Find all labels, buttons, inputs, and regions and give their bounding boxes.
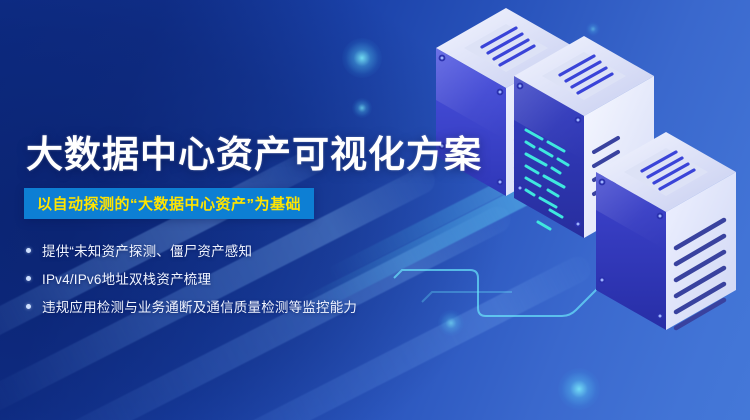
data-center-banner: 大数据中心资产可视化方案 以自动探测的“大数据中心资产”为基础 提供“未知资产探… [0, 0, 750, 420]
bullet-dot-icon [26, 276, 31, 281]
list-item: 违规应用检测与业务通断及通信质量检测等监控能力 [26, 292, 446, 320]
page-title: 大数据中心资产可视化方案 [26, 124, 482, 178]
list-item-label: IPv4/IPv6地址双栈资产梳理 [42, 268, 211, 288]
subtitle-text: 以自动探测的“大数据中心资产”为基础 [37, 193, 301, 214]
bullet-dot-icon [26, 304, 31, 309]
list-item: IPv4/IPv6地址双栈资产梳理 [26, 264, 446, 292]
subtitle-banner: 以自动探测的“大数据中心资产”为基础 [24, 188, 314, 219]
server-rack-right [596, 132, 736, 330]
list-item-label: 提供“未知资产探测、僵尸资产感知 [42, 240, 252, 260]
list-item-label: 违规应用检测与业务通断及通信质量检测等监控能力 [42, 296, 357, 316]
list-item: 提供“未知资产探测、僵尸资产感知 [26, 236, 446, 264]
feature-list: 提供“未知资产探测、僵尸资产感知 IPv4/IPv6地址双栈资产梳理 违规应用检… [26, 236, 446, 320]
text-content: 大数据中心资产可视化方案 以自动探测的“大数据中心资产”为基础 提供“未知资产探… [0, 0, 460, 420]
server-racks-illustration [420, 0, 750, 420]
bullet-dot-icon [26, 248, 31, 253]
